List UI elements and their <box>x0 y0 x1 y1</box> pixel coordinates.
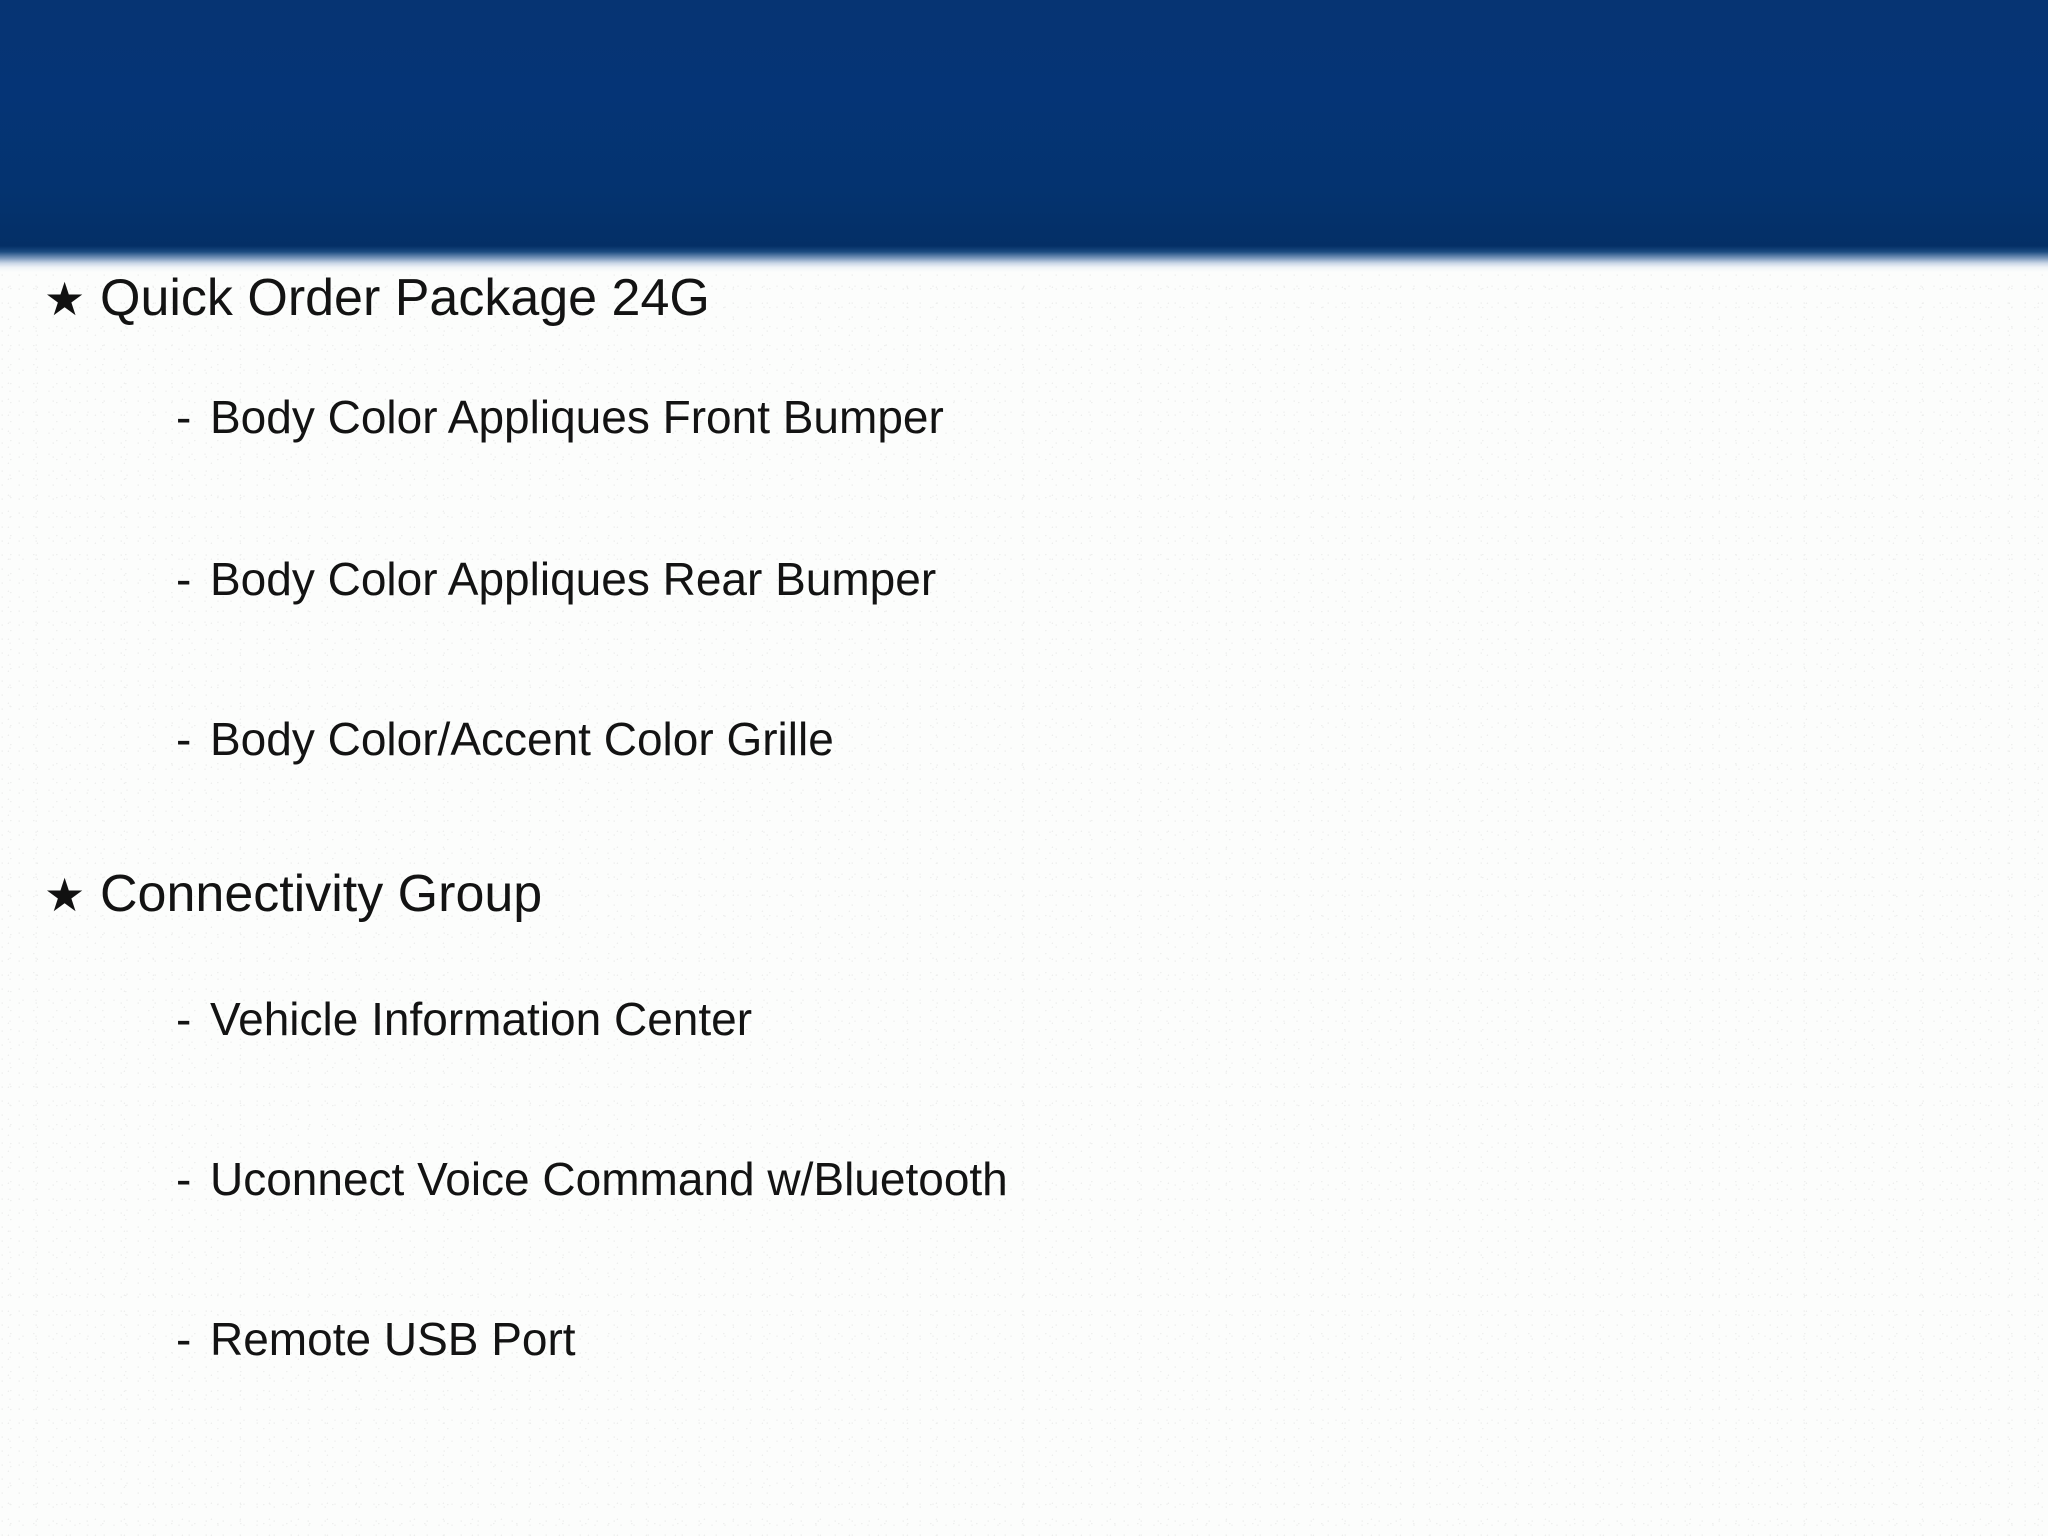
list-item-label: Body Color Appliques Front Bumper <box>210 394 944 440</box>
star-icon: ★ <box>44 276 100 322</box>
dash-icon: - <box>176 1156 210 1202</box>
list-item: ★ Quick Order Package 24G <box>44 272 710 390</box>
list-item-label: Body Color/Accent Color Grille <box>210 716 834 762</box>
list-item: - Body Color/Accent Color Grille <box>176 716 834 876</box>
list-item: - Remote USB Port <box>176 1316 576 1476</box>
list-item: ★ Connectivity Group <box>44 868 542 986</box>
dash-icon: - <box>176 996 210 1042</box>
dash-icon: - <box>176 394 210 440</box>
star-icon: ★ <box>44 872 100 918</box>
dash-icon: - <box>176 556 210 602</box>
list-item-label: Connectivity Group <box>100 868 542 920</box>
list-item: - Uconnect Voice Command w/Bluetooth <box>176 1156 1008 1316</box>
list-item: - Body Color Appliques Rear Bumper <box>176 556 936 716</box>
list-item: - Vehicle Information Center <box>176 996 752 1156</box>
list-item-label: Uconnect Voice Command w/Bluetooth <box>210 1156 1008 1202</box>
dash-icon: - <box>176 716 210 762</box>
dash-icon: - <box>176 1316 210 1362</box>
list-item-label: Body Color Appliques Rear Bumper <box>210 556 936 602</box>
slide-vehicle-highlights: Vehicle Highlights ★ Quick Order Package… <box>0 0 2048 1536</box>
list-item-label: Vehicle Information Center <box>210 996 752 1042</box>
list-item: - Body Color Appliques Front Bumper <box>176 394 944 554</box>
list-item-label: Remote USB Port <box>210 1316 576 1362</box>
list-item-label: Quick Order Package 24G <box>100 272 710 324</box>
header-band <box>0 0 2048 246</box>
